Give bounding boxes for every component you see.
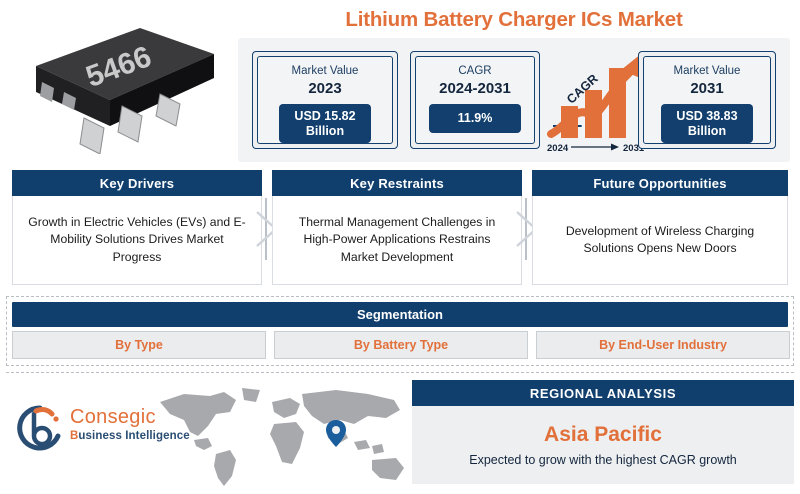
regional-name: Asia Pacific	[544, 422, 662, 448]
card-heading: Future Opportunities	[532, 170, 788, 196]
card-future-opportunities: Future Opportunities Development of Wire…	[532, 170, 788, 285]
world-map-svg	[150, 384, 430, 489]
stat-label: Market Value	[674, 64, 741, 78]
card-heading: Key Restraints	[272, 170, 522, 196]
segmentation-heading: Segmentation	[12, 302, 788, 327]
stat-market-value-2031: Market Value 2031 USD 38.83 Billion	[638, 51, 776, 149]
stat-value-line1: USD 15.82	[289, 109, 361, 124]
segmentation-section: Segmentation By Type By Battery Type By …	[6, 296, 794, 366]
card-body: Development of Wireless Charging Solutio…	[532, 196, 788, 285]
page-title: Lithium Battery Charger ICs Market	[238, 8, 790, 32]
stat-value-pill: USD 15.82 Billion	[279, 104, 371, 143]
map-location-pin-icon	[326, 420, 346, 447]
regional-heading: REGIONAL ANALYSIS	[412, 380, 794, 406]
axis-start-label: 2024	[547, 143, 569, 154]
consegic-b-mark-icon	[14, 402, 66, 454]
stat-year: 2024-2031	[439, 79, 511, 98]
footer-divider	[6, 372, 794, 373]
stat-market-value-2023: Market Value 2023 USD 15.82 Billion	[252, 51, 398, 149]
regional-analysis-panel: REGIONAL ANALYSIS Asia Pacific Expected …	[412, 380, 794, 484]
stat-value-pill: 11.9%	[429, 104, 521, 133]
card-key-restraints: Key Restraints Thermal Management Challe…	[272, 170, 522, 285]
stat-label: CAGR	[458, 64, 491, 78]
stat-year: 2023	[308, 79, 341, 98]
stat-year: 2031	[690, 79, 723, 98]
product-chip-image: 5466	[18, 14, 228, 154]
stat-value-pill: USD 38.83 Billion	[661, 104, 753, 143]
segmentation-item-by-battery-type[interactable]: By Battery Type	[274, 331, 528, 359]
segmentation-item-by-type[interactable]: By Type	[12, 331, 266, 359]
top-section: 5466 Lithium Battery Charger ICs Market …	[0, 0, 800, 168]
card-heading: Key Drivers	[12, 170, 262, 196]
stat-value-line2: Billion	[289, 124, 361, 139]
card-body: Thermal Management Challenges in High-Po…	[272, 196, 522, 285]
infographic-page: 5466 Lithium Battery Charger ICs Market …	[0, 0, 800, 491]
world-map	[150, 384, 430, 489]
stats-band: Market Value 2023 USD 15.82 Billion CAGR…	[238, 38, 790, 162]
segmentation-item-by-end-user-industry[interactable]: By End-User Industry	[536, 331, 790, 359]
regional-body: Asia Pacific Expected to grow with the h…	[412, 406, 794, 484]
ic-chip-illustration: 5466	[18, 14, 228, 154]
stat-label: Market Value	[292, 64, 359, 78]
stat-value-line2: Billion	[671, 124, 743, 139]
card-body: Growth in Electric Vehicles (EVs) and E-…	[12, 196, 262, 285]
stat-cagr-period: CAGR 2024-2031 11.9%	[410, 51, 540, 149]
card-key-drivers: Key Drivers Growth in Electric Vehicles …	[12, 170, 262, 285]
highlight-cards: Key Drivers Growth in Electric Vehicles …	[0, 170, 800, 288]
footer-section: Consegic Business Intelligence	[0, 372, 800, 491]
regional-description: Expected to grow with the highest CAGR g…	[469, 451, 737, 469]
segmentation-items: By Type By Battery Type By End-User Indu…	[12, 331, 790, 359]
stat-value-line1: USD 38.83	[671, 109, 743, 124]
